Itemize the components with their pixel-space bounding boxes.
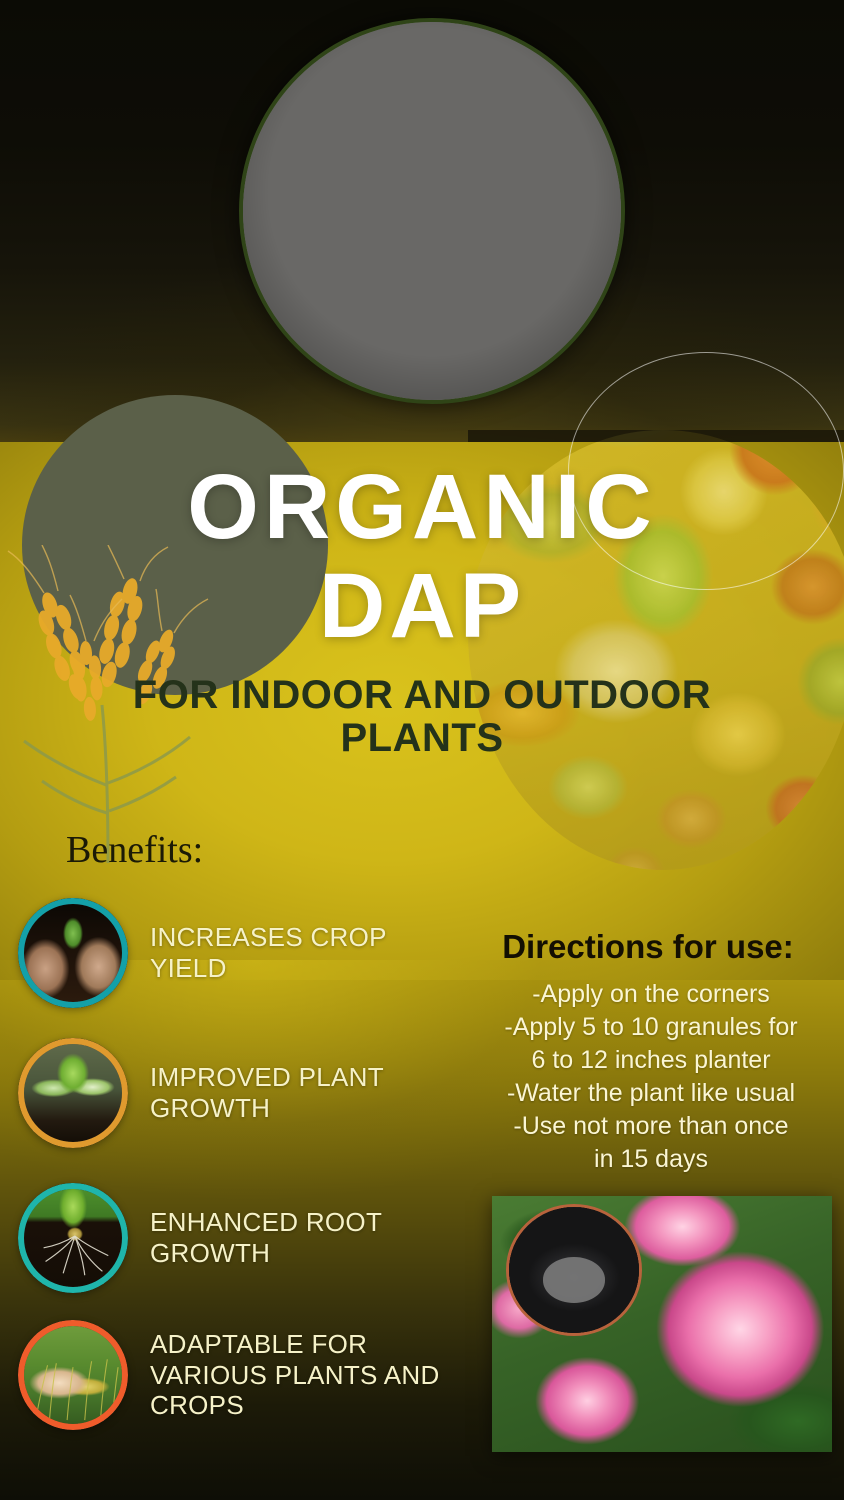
benefit-label-3: ENHANCED ROOT GROWTH [150, 1207, 458, 1268]
wheat-blades [24, 1326, 122, 1424]
root-lines [24, 1189, 122, 1287]
benefit-icon-1 [18, 898, 128, 1008]
page-tagline: FOR INDOOR AND OUTDOOR PLANTS [0, 674, 844, 760]
directions-heading: Directions for use: [468, 928, 828, 966]
benefit-label-2: IMPROVED PLANT GROWTH [150, 1062, 458, 1123]
hand-over-wheat-field-icon [24, 1326, 122, 1424]
page-title-line1: ORGANIC [0, 462, 844, 552]
poster-root: ORGANIC DAP FOR INDOOR AND OUTDOOR PLANT… [0, 0, 844, 1500]
benefit-icon-4 [18, 1320, 128, 1430]
directions-line-1: -Apply on the corners [468, 978, 834, 1011]
benefit-label-4: ADAPTABLE FOR VARIOUS PLANTS AND CROPS [150, 1329, 458, 1421]
benefit-item-improved-plant-growth: IMPROVED PLANT GROWTH [18, 1038, 458, 1148]
directions-list: -Apply on the corners -Apply 5 to 10 gra… [468, 978, 834, 1176]
benefits-heading: Benefits: [66, 828, 203, 872]
vegetables-photo-top-band [468, 430, 844, 442]
pink-peony-flowers-photo [492, 1196, 832, 1452]
fertilizer-granules-photo [239, 18, 625, 404]
benefit-label-1: INCREASES CROP YIELD [150, 922, 458, 983]
directions-line-4: -Water the plant like usual [468, 1077, 834, 1110]
benefit-item-enhanced-root-growth: ENHANCED ROOT GROWTH [18, 1183, 458, 1293]
directions-line-3: 6 to 12 inches planter [468, 1044, 834, 1077]
green-seedling-icon [24, 1044, 122, 1142]
page-title-line2: DAP [0, 560, 844, 652]
granule-grain-texture [543, 1257, 605, 1302]
benefit-item-adaptable-plants-crops: ADAPTABLE FOR VARIOUS PLANTS AND CROPS [18, 1320, 458, 1430]
directions-line-2: -Apply 5 to 10 granules for [468, 1011, 834, 1044]
benefit-item-increases-crop-yield: INCREASES CROP YIELD [18, 898, 458, 1008]
granules-vignette [243, 22, 621, 400]
directions-line-5: -Use not more than once [468, 1110, 834, 1143]
benefit-icon-3 [18, 1183, 128, 1293]
hands-holding-soil-seedling-icon [24, 904, 122, 1002]
benefit-icon-2 [18, 1038, 128, 1148]
directions-line-6: in 15 days [468, 1143, 834, 1176]
title-block: ORGANIC DAP FOR INDOOR AND OUTDOOR PLANT… [0, 462, 844, 761]
root-system-icon [24, 1189, 122, 1287]
gloved-hand-granules-inset [506, 1204, 642, 1336]
